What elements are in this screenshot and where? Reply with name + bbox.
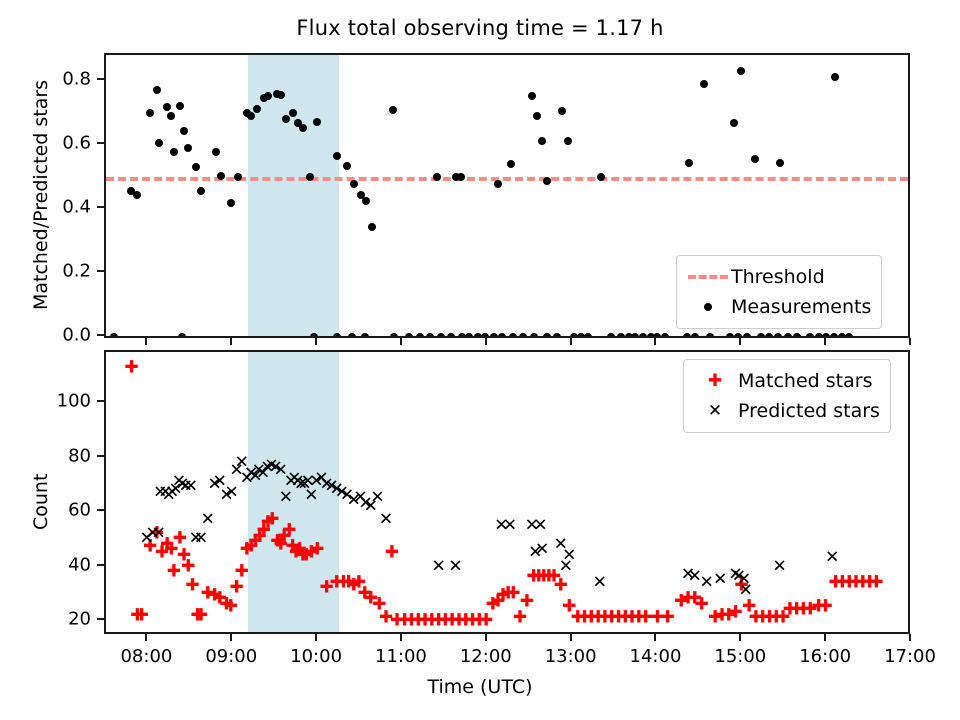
data-point: ✕ [229, 464, 244, 479]
data-point [776, 159, 784, 167]
data-point: ✚ [694, 597, 709, 612]
data-point: ✕ [558, 559, 573, 574]
data-point [730, 119, 738, 127]
data-point [564, 137, 572, 145]
x-marker-icon: ✕ [692, 401, 738, 421]
x-tick-mark [145, 634, 147, 641]
x-tick-mark-top [315, 338, 317, 345]
data-point: ✚ [390, 614, 405, 629]
data-point [577, 333, 585, 338]
data-point: ✕ [737, 573, 752, 588]
data-point [533, 112, 541, 120]
data-point: ✚ [546, 570, 561, 585]
highlighted-interval-bottom [248, 352, 340, 632]
data-point: ✕ [699, 575, 714, 590]
y-tick-label: 0.6 [34, 133, 91, 154]
data-point [538, 137, 546, 145]
data-point: ✚ [818, 600, 833, 615]
data-point [530, 333, 538, 338]
data-point: ✚ [397, 614, 412, 629]
data-point: ✚ [363, 592, 378, 607]
x-tick-label: 11:00 [375, 646, 427, 667]
data-point: ✚ [584, 611, 599, 626]
page-title: Flux total observing time = 1.17 h [0, 16, 960, 40]
data-point [700, 80, 708, 88]
data-point [553, 333, 561, 338]
data-point: ✕ [562, 548, 577, 563]
data-point: ✕ [713, 573, 728, 588]
data-point: ✕ [161, 488, 176, 503]
data-point: ✚ [160, 537, 175, 552]
data-point: ✚ [742, 600, 757, 615]
highlighted-interval-top [248, 55, 340, 336]
data-point: ✚ [611, 611, 626, 626]
data-point: ✚ [143, 540, 158, 555]
data-point: ✕ [151, 526, 166, 541]
legend-item-matched-stars: ✚ Matched stars [692, 366, 880, 396]
y-tick-mark [97, 618, 104, 620]
data-point [133, 191, 141, 199]
data-point: ✚ [721, 608, 736, 623]
data-point [127, 187, 135, 195]
data-point: ✚ [149, 526, 164, 541]
data-point [362, 197, 370, 205]
data-point: ✚ [811, 600, 826, 615]
data-point: ✚ [479, 614, 494, 629]
data-point [155, 139, 163, 147]
data-point [498, 333, 506, 338]
data-point: ✚ [418, 614, 433, 629]
legend-label-measurements: Measurements [731, 296, 871, 318]
data-point [519, 333, 527, 338]
figure-canvas: Flux total observing time = 1.17 h Match… [0, 0, 960, 720]
data-point [774, 333, 782, 338]
x-tick-label: 10:00 [290, 646, 342, 667]
data-point: ✚ [485, 597, 500, 612]
data-point: ✚ [681, 592, 696, 607]
data-point [726, 333, 734, 338]
x-tick-mark [315, 634, 317, 641]
data-point [178, 333, 186, 338]
data-point [806, 333, 814, 338]
y-tick-label: 60 [34, 500, 91, 521]
x-tick-mark [485, 634, 487, 641]
data-point [192, 163, 200, 171]
data-point: ✕ [528, 545, 543, 560]
plus-marker-icon: ✚ [692, 371, 738, 391]
data-point [661, 333, 669, 338]
data-point: ✚ [855, 575, 870, 590]
x-tick-mark-top [739, 338, 741, 345]
data-point: ✕ [825, 551, 840, 566]
data-point: ✕ [153, 485, 168, 500]
x-tick-label: 16:00 [799, 646, 851, 667]
y-tick-label: 0.2 [34, 261, 91, 282]
data-point: ✚ [506, 586, 521, 601]
data-point: ✕ [772, 559, 787, 574]
data-point: ✕ [502, 518, 517, 533]
data-point [784, 333, 792, 338]
data-point: ✕ [224, 485, 239, 500]
data-point: ✚ [194, 608, 209, 623]
data-point: ✚ [378, 611, 393, 626]
data-point [405, 333, 413, 338]
data-point [184, 144, 192, 152]
data-point: ✚ [526, 570, 541, 585]
y-tick-mark [97, 564, 104, 566]
y-tick-mark [97, 142, 104, 144]
legend-label-matched-stars: Matched stars [738, 370, 872, 392]
data-point [765, 333, 773, 338]
data-point: ✚ [501, 586, 516, 601]
data-point: ✚ [714, 608, 729, 623]
data-point: ✚ [166, 564, 181, 579]
data-point [361, 333, 369, 338]
data-point [625, 333, 633, 338]
data-point: ✚ [789, 603, 804, 618]
data-point: ✚ [465, 614, 480, 629]
data-point: ✚ [177, 548, 192, 563]
x-tick-label: 14:00 [630, 646, 682, 667]
data-point: ✚ [660, 611, 675, 626]
y-tick-mark [97, 509, 104, 511]
data-point: ✕ [353, 491, 368, 506]
legend-label-predicted-stars: Predicted stars [738, 400, 880, 422]
data-point: ✕ [219, 488, 234, 503]
data-point: ✚ [828, 575, 843, 590]
data-point [153, 86, 161, 94]
data-point [197, 187, 205, 195]
data-point: ✚ [862, 575, 877, 590]
x-tick-mark [570, 634, 572, 641]
data-point: ✚ [625, 611, 640, 626]
x-tick-mark-top [485, 338, 487, 345]
y-tick-label: 80 [34, 445, 91, 466]
data-point: ✚ [604, 611, 619, 626]
data-point [737, 67, 745, 75]
x-tick-mark [400, 634, 402, 641]
y-tick-label: 100 [34, 391, 91, 412]
data-point: ✕ [358, 496, 373, 511]
data-point [743, 333, 751, 338]
data-point: ✚ [835, 575, 850, 590]
y-tick-label: 40 [34, 554, 91, 575]
data-point: ✚ [591, 611, 606, 626]
data-point: ✚ [490, 594, 505, 609]
data-point [617, 333, 625, 338]
data-point [685, 159, 693, 167]
data-point: ✚ [404, 614, 419, 629]
data-point: ✚ [411, 614, 426, 629]
x-tick-mark-top [230, 338, 232, 345]
data-point: ✚ [124, 360, 139, 375]
threshold-line [106, 177, 908, 181]
data-point: ✕ [592, 575, 607, 590]
data-point [357, 191, 365, 199]
x-axis-label: Time (UTC) [0, 676, 960, 698]
data-point: ✕ [200, 513, 215, 528]
dot-marker-icon [685, 297, 731, 317]
data-point: ✕ [378, 513, 393, 528]
y-tick-label: 0.8 [34, 69, 91, 90]
data-point: ✚ [458, 614, 473, 629]
data-point: ✕ [212, 475, 227, 490]
data-point: ✚ [357, 586, 372, 601]
data-point [845, 333, 853, 338]
data-point: ✚ [164, 543, 179, 558]
data-point [751, 155, 759, 163]
y-tick-label: 0.0 [34, 325, 91, 346]
data-point [390, 333, 398, 338]
data-point [212, 148, 220, 156]
data-point [543, 333, 551, 338]
data-point [389, 106, 397, 114]
data-point [465, 333, 473, 338]
top-panel-legend: Threshold Measurements [676, 255, 882, 329]
data-point: ✚ [708, 611, 723, 626]
x-tick-mark [824, 634, 826, 641]
data-point: ✕ [524, 518, 539, 533]
legend-item-measurements: Measurements [685, 292, 871, 322]
data-point: ✚ [384, 545, 399, 560]
data-point: ✕ [183, 480, 198, 495]
x-tick-mark-top [654, 338, 656, 345]
legend-item-predicted-stars: ✕ Predicted stars [692, 396, 880, 426]
data-point: ✚ [372, 597, 387, 612]
data-point: ✕ [681, 567, 696, 582]
data-point: ✕ [533, 518, 548, 533]
data-point: ✚ [842, 575, 857, 590]
data-point: ✚ [431, 614, 446, 629]
data-point [350, 180, 358, 188]
y-tick-mark [97, 270, 104, 272]
data-point: ✕ [738, 584, 753, 599]
data-point [458, 333, 466, 338]
data-point: ✕ [728, 567, 743, 582]
x-tick-label: 15:00 [714, 646, 766, 667]
x-tick-mark-top [145, 338, 147, 345]
data-point: ✚ [618, 611, 633, 626]
data-point: ✚ [451, 614, 466, 629]
bottom-panel-legend: ✚ Matched stars ✕ Predicted stars [683, 359, 891, 433]
y-tick-mark [97, 206, 104, 208]
data-point: ✕ [553, 537, 568, 552]
data-point [343, 162, 351, 170]
data-point: ✚ [562, 600, 577, 615]
data-point [793, 333, 801, 338]
x-tick-mark-top [824, 338, 826, 345]
data-point: ✚ [181, 559, 196, 574]
x-tick-mark [739, 634, 741, 641]
data-point: ✕ [168, 483, 183, 498]
data-point [607, 333, 615, 338]
data-point: ✕ [494, 518, 509, 533]
y-tick-label: 0.4 [34, 197, 91, 218]
data-point: ✚ [200, 586, 215, 601]
data-point [815, 333, 823, 338]
data-point [683, 333, 691, 338]
data-point: ✕ [175, 477, 190, 492]
data-point: ✚ [803, 603, 818, 618]
data-point: ✚ [154, 545, 169, 560]
data-point [447, 333, 455, 338]
y-tick-mark [97, 455, 104, 457]
data-point: ✚ [748, 611, 763, 626]
y-tick-mark [97, 400, 104, 402]
x-tick-label: 12:00 [460, 646, 512, 667]
data-point: ✚ [631, 611, 646, 626]
data-point: ✚ [541, 570, 556, 585]
data-point: ✚ [351, 575, 366, 590]
data-point [490, 333, 498, 338]
data-point: ✕ [535, 543, 550, 558]
data-point: ✚ [223, 600, 238, 615]
x-tick-label: 08:00 [120, 646, 172, 667]
data-point [507, 160, 515, 168]
legend-label-threshold: Threshold [731, 266, 825, 288]
x-tick-mark-top [909, 338, 911, 345]
data-point [163, 103, 171, 111]
data-point: ✚ [519, 594, 534, 609]
data-point: ✚ [172, 532, 187, 547]
data-point: ✕ [139, 532, 154, 547]
data-point [416, 333, 424, 338]
data-point [176, 102, 184, 110]
data-point: ✕ [178, 480, 193, 495]
x-tick-mark [909, 634, 911, 641]
data-point: ✚ [638, 611, 653, 626]
data-point: ✚ [219, 597, 234, 612]
data-point [631, 333, 639, 338]
x-tick-label: 17:00 [884, 646, 936, 667]
data-point: ✚ [597, 611, 612, 626]
data-point: ✚ [424, 614, 439, 629]
data-point: ✚ [207, 589, 222, 604]
data-point [558, 107, 566, 115]
data-point [584, 333, 592, 338]
data-point: ✕ [363, 499, 378, 514]
dashed-line-icon [685, 267, 731, 287]
x-tick-mark-top [570, 338, 572, 345]
data-point: ✚ [570, 611, 585, 626]
data-point: ✕ [339, 488, 354, 503]
data-point: ✕ [207, 477, 222, 492]
data-point [426, 333, 434, 338]
data-point: ✚ [212, 592, 227, 607]
data-point: ✚ [513, 611, 528, 626]
data-point: ✚ [346, 578, 361, 593]
x-tick-label: 09:00 [205, 646, 257, 667]
data-point [474, 333, 482, 338]
data-point: ✚ [577, 611, 592, 626]
data-point: ✕ [145, 526, 160, 541]
data-point: ✚ [869, 575, 884, 590]
data-point [831, 73, 839, 81]
data-point: ✚ [674, 594, 689, 609]
data-point: ✕ [448, 559, 463, 574]
data-point: ✚ [553, 578, 568, 593]
data-point: ✚ [734, 578, 749, 593]
data-point [706, 333, 714, 338]
x-tick-mark-top [400, 338, 402, 345]
data-point: ✚ [687, 592, 702, 607]
data-point: ✚ [762, 611, 777, 626]
data-point: ✚ [776, 611, 791, 626]
data-point [368, 223, 376, 231]
x-tick-label: 13:00 [545, 646, 597, 667]
data-point: ✚ [185, 578, 200, 593]
data-point: ✚ [445, 614, 460, 629]
data-point: ✚ [134, 608, 149, 623]
data-point [639, 333, 647, 338]
data-point [167, 112, 175, 120]
data-point [494, 180, 502, 188]
data-point [838, 333, 846, 338]
data-point: ✚ [531, 570, 546, 585]
x-tick-mark [230, 634, 232, 641]
data-point: ✚ [472, 614, 487, 629]
data-point: ✚ [438, 614, 453, 629]
data-point [146, 109, 154, 117]
data-point [691, 333, 699, 338]
data-point [437, 333, 445, 338]
data-point: ✚ [190, 608, 205, 623]
data-point [647, 333, 655, 338]
data-point [170, 148, 178, 156]
x-tick-mark [654, 634, 656, 641]
data-point [110, 333, 118, 338]
data-point: ✚ [796, 603, 811, 618]
data-point [528, 92, 536, 100]
data-point: ✚ [496, 589, 511, 604]
data-point: ✚ [536, 570, 551, 585]
data-point: ✚ [229, 581, 244, 596]
data-point: ✕ [370, 491, 385, 506]
data-point: ✕ [158, 485, 173, 500]
y-tick-mark [97, 78, 104, 80]
data-point: ✚ [782, 603, 797, 618]
data-point: ✚ [650, 611, 665, 626]
y-tick-mark [97, 334, 104, 336]
y-tick-label: 20 [34, 609, 91, 630]
data-point: ✚ [130, 608, 145, 623]
data-point: ✚ [769, 611, 784, 626]
data-point: ✕ [731, 570, 746, 585]
data-point [509, 333, 517, 338]
data-point [757, 333, 765, 338]
data-point: ✚ [728, 605, 743, 620]
data-point: ✕ [165, 485, 180, 500]
data-point: ✚ [849, 575, 864, 590]
data-point: ✕ [431, 559, 446, 574]
data-point: ✕ [188, 532, 203, 547]
data-point: ✚ [341, 575, 356, 590]
data-point [830, 333, 838, 338]
data-point: ✕ [346, 494, 361, 509]
legend-item-threshold: Threshold [685, 262, 871, 292]
data-point [227, 199, 235, 207]
data-point: ✕ [171, 475, 186, 490]
data-point: ✚ [755, 611, 770, 626]
data-point [180, 127, 188, 135]
data-point: ✕ [687, 570, 702, 585]
data-point [348, 333, 356, 338]
data-point: ✕ [194, 532, 209, 547]
